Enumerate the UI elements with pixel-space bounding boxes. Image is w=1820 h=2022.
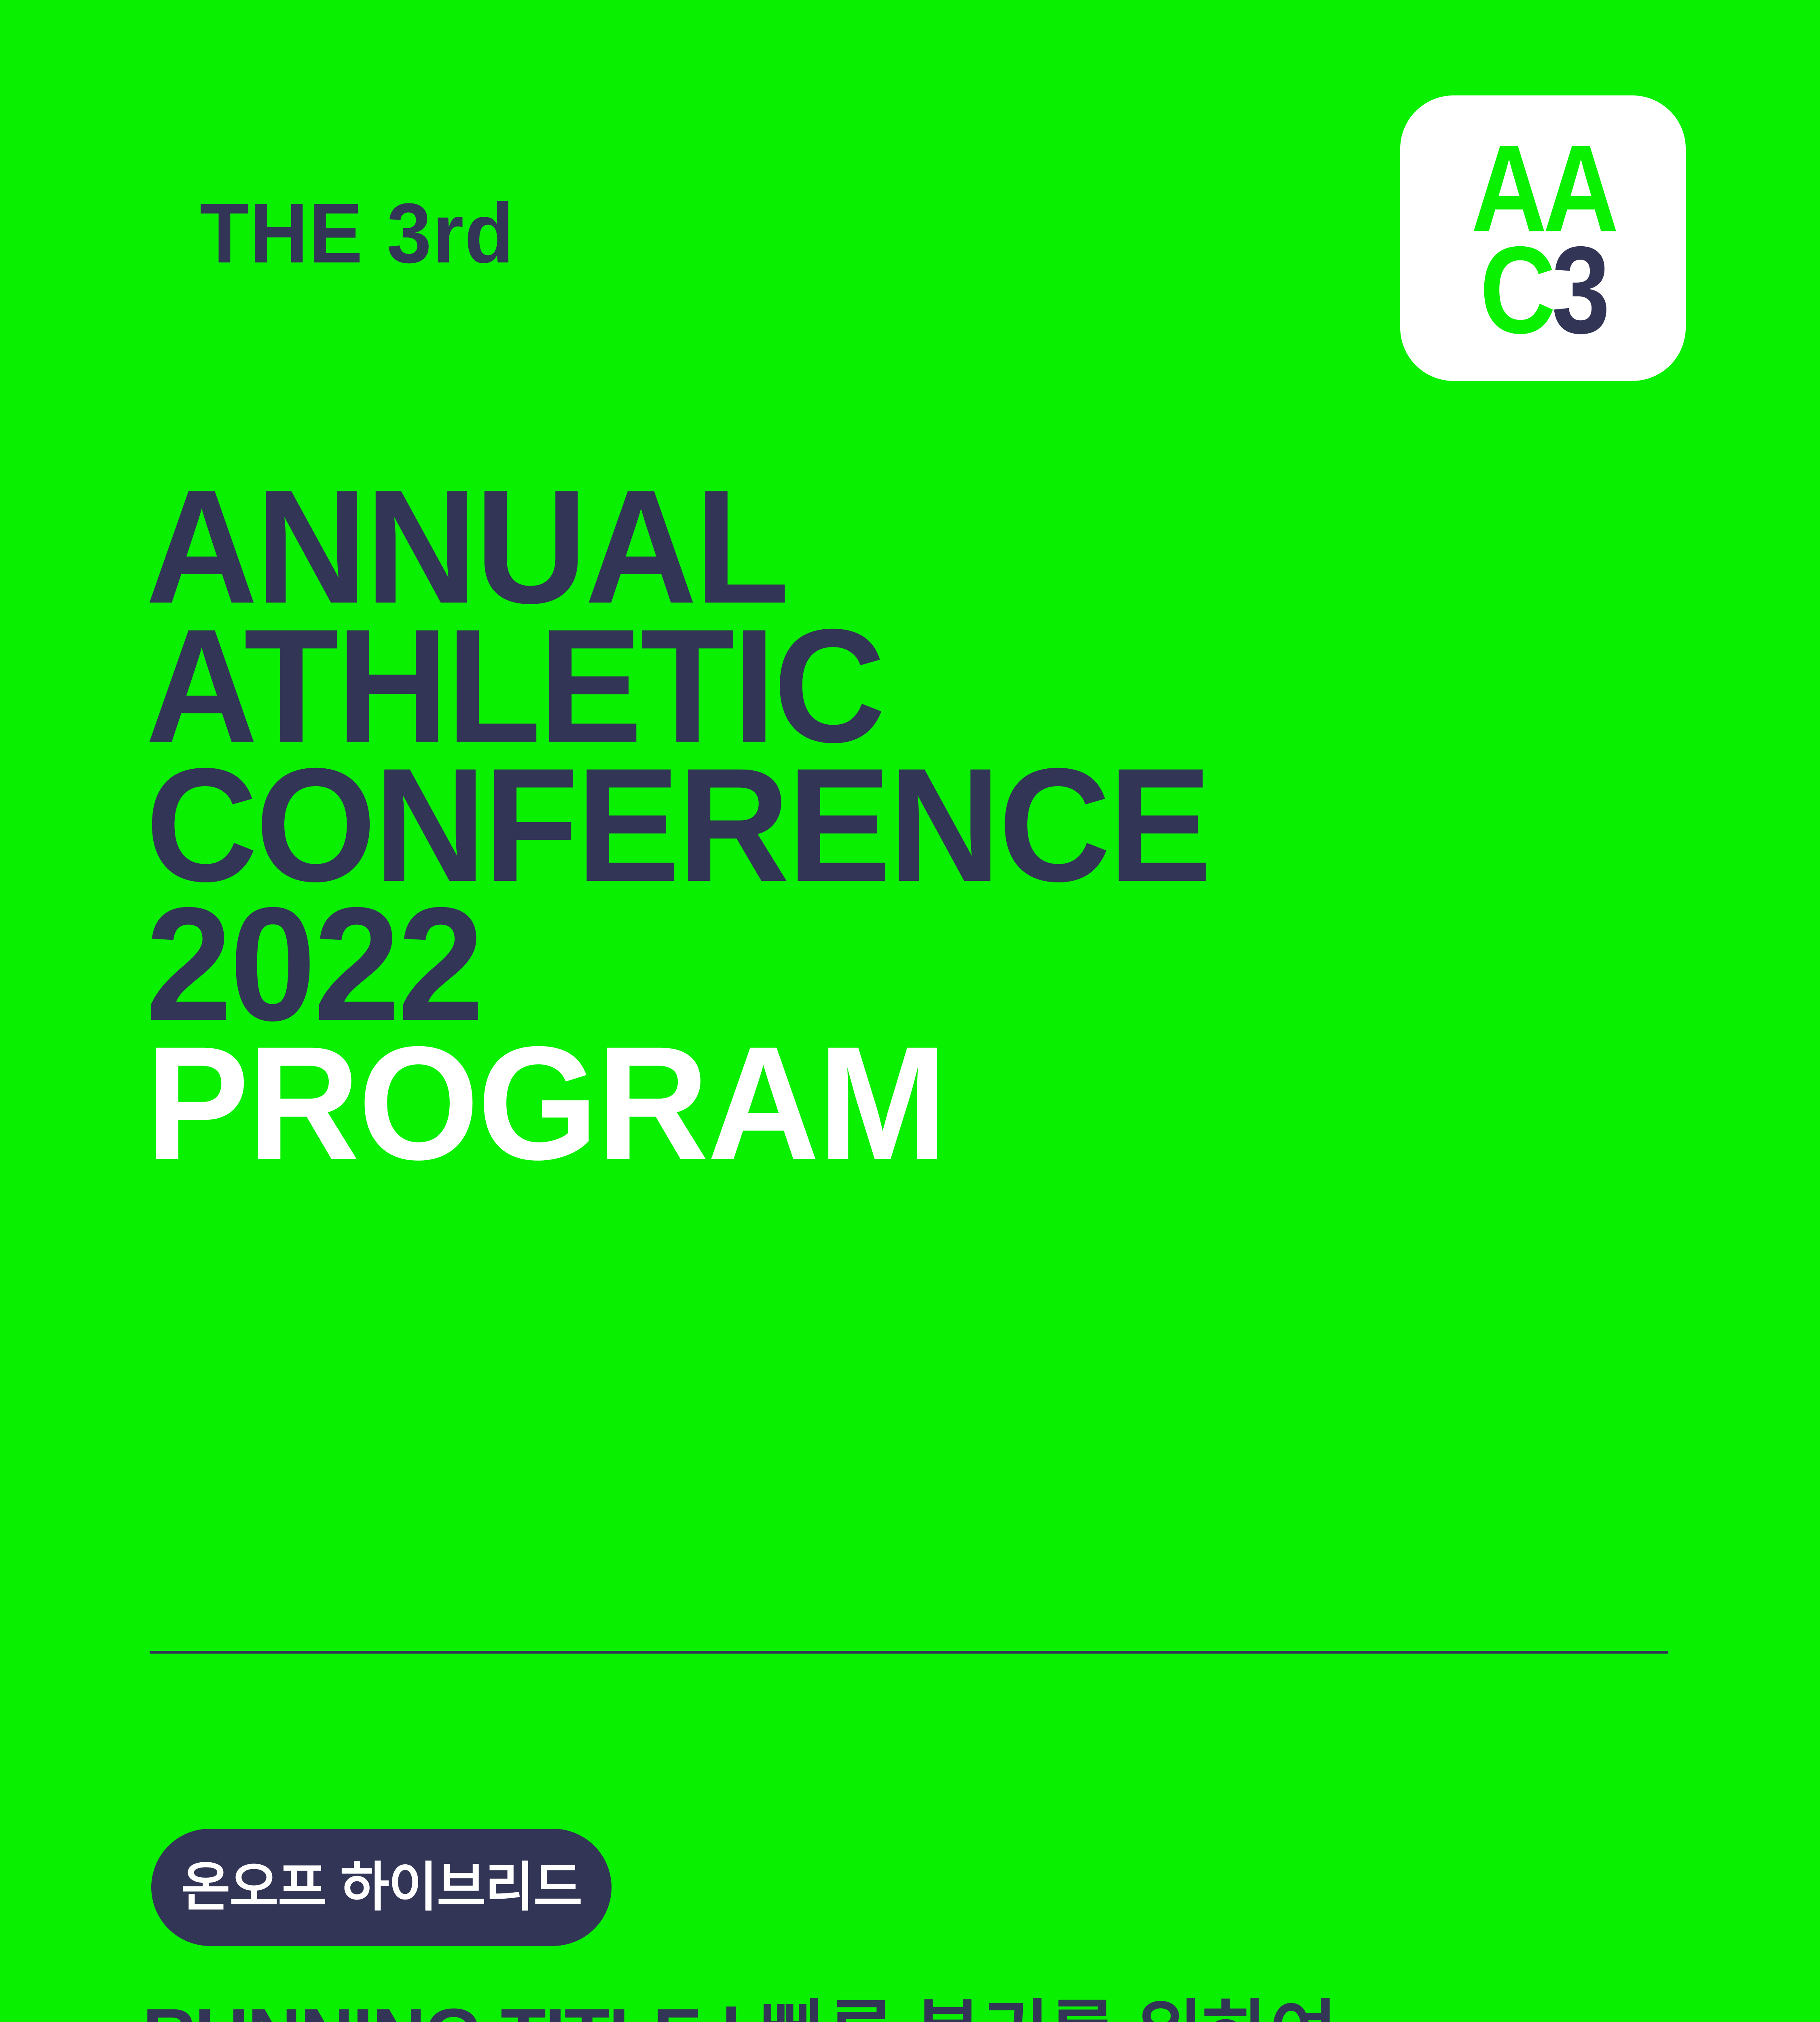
headline-program: PROGRAM bbox=[146, 1034, 1660, 1173]
logo-letter-c: C bbox=[1480, 240, 1552, 342]
page-title: ANNUAL ATHLETIC CONFERENCE 2022 PROGRAM bbox=[146, 477, 1723, 1173]
kicker-the-3rd: THE 3rd bbox=[200, 191, 514, 276]
status-badge: 온오프 하이브리드 bbox=[151, 1829, 612, 1946]
poster-canvas: AA C 3 THE 3rd ANNUAL ATHLETIC CONFERENC… bbox=[0, 0, 1820, 2022]
section-divider bbox=[150, 1651, 1668, 1654]
aac3-logo-badge: AA C 3 bbox=[1400, 95, 1686, 381]
running-title: RUNNING TITLE | 빠른 복귀를 위하여 bbox=[142, 1994, 1337, 2022]
logo-row-c3: C 3 bbox=[1480, 247, 1606, 334]
status-badge-label: 온오프 하이브리드 bbox=[181, 1861, 582, 1914]
logo-row-aa: AA bbox=[1471, 146, 1615, 232]
logo-letter-3: 3 bbox=[1552, 240, 1606, 342]
